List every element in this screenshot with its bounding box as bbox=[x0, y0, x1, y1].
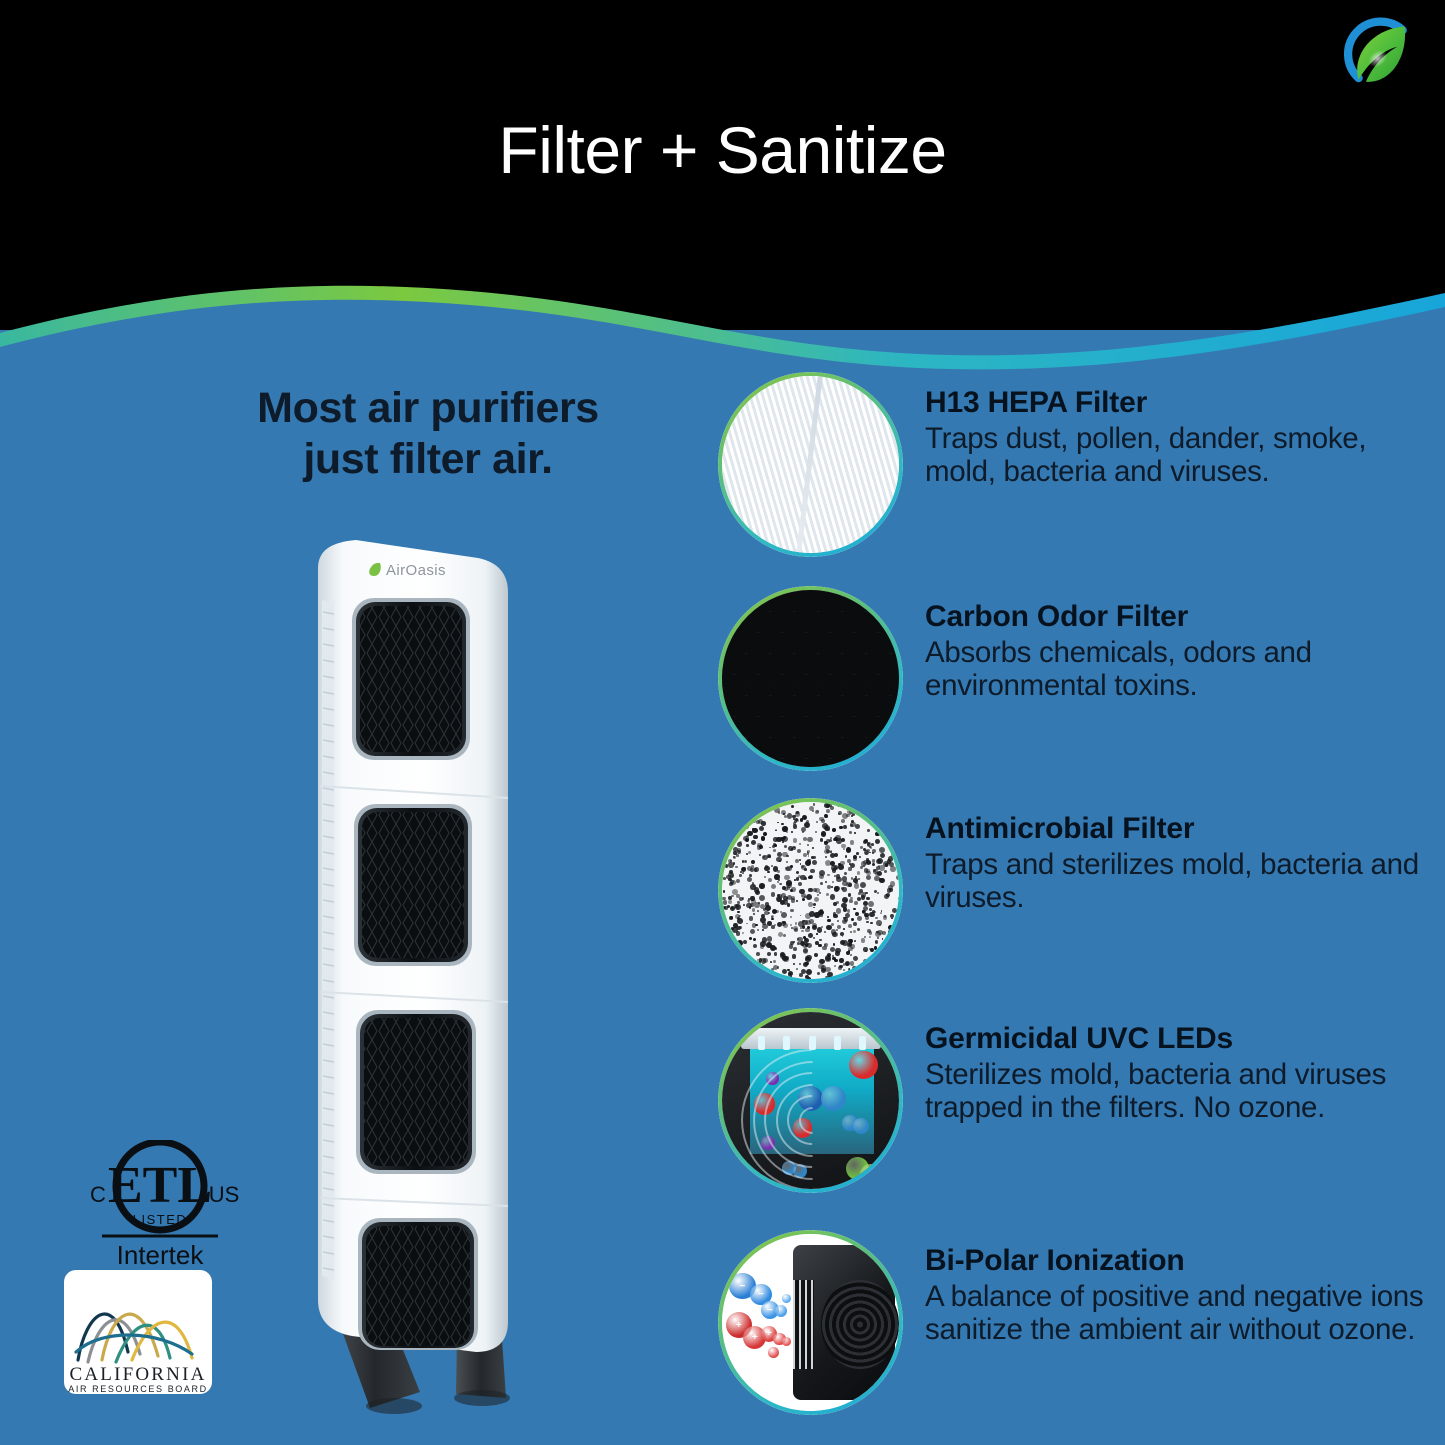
etl-listed-text: LISTED bbox=[133, 1212, 188, 1227]
feature-description: Traps and sterilizes mold, bacteria and … bbox=[925, 848, 1430, 915]
feature-title: Bi-Polar Ionization bbox=[925, 1244, 1430, 1278]
status-badge-etl-listed: ETL C US LISTED Intertek bbox=[72, 1140, 248, 1275]
feature-item-carbon-odor-filter: Carbon Odor Filter Absorbs chemicals, od… bbox=[718, 586, 1430, 798]
bipolar-ionization-thumbnail: −−−+++ bbox=[718, 1230, 903, 1415]
hepa-filter-thumbnail bbox=[718, 372, 903, 557]
feature-title: H13 HEPA Filter bbox=[925, 386, 1430, 420]
etl-agency: Intertek bbox=[117, 1240, 205, 1270]
page-title: Filter + Sanitize bbox=[0, 112, 1445, 188]
infographic-canvas: Filter + Sanitize bbox=[0, 0, 1445, 1445]
air-oasis-leaf-logo bbox=[1331, 10, 1423, 102]
feature-list: H13 HEPA Filter Traps dust, pollen, dand… bbox=[718, 372, 1430, 1430]
feature-item-bi-polar-ionization: −−−+++ Bi-Polar Ionization A balance of … bbox=[718, 1230, 1430, 1430]
status-badge-carb: CALIFORNIA AIR RESOURCES BOARD bbox=[62, 1268, 214, 1396]
feature-description: Traps dust, pollen, dander, smoke, mold,… bbox=[925, 422, 1430, 489]
svg-text:ETL: ETL bbox=[108, 1157, 212, 1214]
feature-title: Germicidal UVC LEDs bbox=[925, 1022, 1430, 1056]
carb-line2: AIR RESOURCES BOARD bbox=[68, 1384, 207, 1394]
antimicrobial-mesh-thumbnail bbox=[718, 798, 903, 983]
feature-title: Carbon Odor Filter bbox=[925, 600, 1430, 634]
product-image-air-purifier: AirOasis bbox=[270, 536, 560, 1445]
feature-description: A balance of positive and negative ions … bbox=[925, 1280, 1430, 1347]
feature-description: Absorbs chemicals, odors and environment… bbox=[925, 636, 1430, 703]
feature-title: Antimicrobial Filter bbox=[925, 812, 1430, 846]
feature-description: Sterilizes mold, bacteria and viruses tr… bbox=[925, 1058, 1430, 1125]
feature-item-h13-hepa-filter: H13 HEPA Filter Traps dust, pollen, dand… bbox=[718, 372, 1430, 586]
feature-item-antimicrobial-filter: Antimicrobial Filter Traps and sterilize… bbox=[718, 798, 1430, 1008]
lede-headline: Most air purifiers just filter air. bbox=[218, 383, 638, 485]
feature-item-germicidal-uvc-leds: Germicidal UVC LEDs Sterilizes mold, bac… bbox=[718, 1008, 1430, 1230]
carb-line1: CALIFORNIA bbox=[69, 1364, 206, 1385]
etl-prefix: C bbox=[90, 1182, 106, 1207]
carbon-honeycomb-thumbnail bbox=[718, 586, 903, 771]
etl-suffix: US bbox=[209, 1182, 240, 1207]
svg-text:AirOasis: AirOasis bbox=[386, 562, 446, 579]
wave-divider bbox=[0, 255, 1445, 385]
uvc-led-thumbnail bbox=[718, 1008, 903, 1193]
